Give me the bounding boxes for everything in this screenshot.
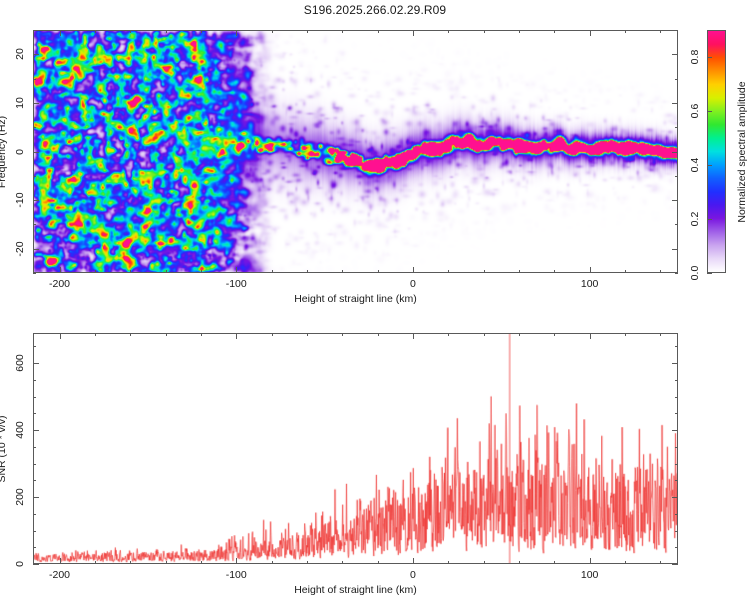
tick-mark	[307, 333, 308, 336]
tick-mark	[675, 176, 678, 177]
tick-mark	[484, 561, 485, 564]
tick-mark	[675, 346, 678, 347]
tick-mark	[519, 333, 520, 336]
tick-mark	[33, 249, 39, 250]
tick-mark	[554, 30, 555, 33]
tick-mark	[448, 561, 449, 564]
tick-mark	[33, 514, 36, 515]
tick-mark	[33, 54, 39, 55]
snr-x-axis-title: Height of straight line (km)	[294, 584, 417, 596]
tick-mark	[660, 30, 661, 33]
tick-mark	[130, 333, 131, 336]
tick-mark	[660, 333, 661, 336]
tick-mark	[95, 270, 96, 273]
tick-mark	[166, 270, 167, 273]
x-tick-label: 100	[581, 278, 599, 290]
y-tick-label: 200	[14, 488, 26, 506]
tick-mark	[672, 152, 678, 153]
tick-mark	[672, 103, 678, 104]
tick-mark	[672, 249, 678, 250]
x-tick-label: -200	[49, 278, 70, 290]
tick-mark	[33, 224, 36, 225]
tick-mark	[33, 103, 39, 104]
tick-mark	[201, 561, 202, 564]
tick-mark	[554, 561, 555, 564]
tick-mark	[33, 564, 39, 565]
tick-mark	[236, 558, 237, 564]
x-tick-label: -200	[49, 569, 70, 581]
tick-mark	[342, 270, 343, 273]
colorbar-tick-label: 0.4	[689, 155, 701, 175]
tick-mark	[342, 561, 343, 564]
tick-mark	[307, 30, 308, 33]
tick-mark	[33, 152, 39, 153]
tick-mark	[448, 30, 449, 33]
tick-mark	[95, 30, 96, 33]
colorbar-tick-label: 0.2	[689, 209, 701, 229]
tick-mark	[672, 54, 678, 55]
tick-mark	[33, 464, 36, 465]
spectrogram-x-axis-title: Height of straight line (km)	[294, 293, 417, 305]
tick-mark	[342, 30, 343, 33]
tick-mark	[675, 447, 678, 448]
tick-mark	[519, 30, 520, 33]
y-tick-label: 0	[14, 555, 26, 573]
colorbar-tick-mark	[707, 57, 712, 58]
tick-mark	[675, 531, 678, 532]
tick-mark	[519, 561, 520, 564]
tick-mark	[130, 30, 131, 33]
tick-mark	[236, 333, 237, 339]
tick-mark	[33, 413, 36, 414]
tick-mark	[60, 267, 61, 273]
tick-mark	[675, 127, 678, 128]
tick-mark	[201, 333, 202, 336]
snr-plot-area	[33, 333, 678, 564]
colorbar-tick-mark	[707, 219, 712, 220]
tick-mark	[484, 270, 485, 273]
figure-root: S196.2025.266.02.29.R09 -200-1000100-20-…	[0, 0, 750, 600]
tick-mark	[484, 333, 485, 336]
tick-mark	[33, 79, 36, 80]
tick-mark	[413, 333, 414, 339]
tick-mark	[625, 561, 626, 564]
tick-mark	[272, 561, 273, 564]
tick-mark	[675, 273, 678, 274]
x-tick-label: 0	[410, 569, 416, 581]
tick-mark	[378, 333, 379, 336]
tick-mark	[378, 30, 379, 33]
colorbar-tick-mark	[707, 273, 712, 274]
tick-mark	[33, 363, 39, 364]
tick-mark	[201, 270, 202, 273]
tick-mark	[130, 270, 131, 273]
tick-mark	[33, 127, 36, 128]
tick-mark	[675, 464, 678, 465]
tick-mark	[378, 561, 379, 564]
tick-mark	[675, 380, 678, 381]
tick-mark	[33, 397, 36, 398]
colorbar-tick-mark	[707, 165, 712, 166]
tick-mark	[130, 561, 131, 564]
tick-mark	[675, 413, 678, 414]
y-tick-label: 10	[14, 94, 26, 112]
tick-mark	[166, 561, 167, 564]
tick-mark	[201, 30, 202, 33]
tick-mark	[342, 333, 343, 336]
tick-mark	[672, 564, 678, 565]
y-tick-label: -10	[14, 191, 26, 209]
y-tick-label: 0	[14, 143, 26, 161]
tick-mark	[33, 346, 36, 347]
figure-title: S196.2025.266.02.29.R09	[0, 3, 750, 17]
tick-mark	[675, 30, 678, 31]
tick-mark	[33, 430, 39, 431]
tick-mark	[660, 270, 661, 273]
x-tick-label: -100	[226, 569, 247, 581]
tick-mark	[33, 497, 39, 498]
tick-mark	[672, 363, 678, 364]
tick-mark	[307, 270, 308, 273]
colorbar-gradient	[707, 30, 726, 273]
tick-mark	[272, 333, 273, 336]
snr-line-trace	[34, 334, 677, 563]
y-tick-label: 400	[14, 421, 26, 439]
spectrogram-plot-area	[33, 30, 678, 273]
tick-mark	[413, 558, 414, 564]
tick-mark	[33, 200, 39, 201]
tick-mark	[590, 267, 591, 273]
tick-mark	[236, 30, 237, 36]
tick-mark	[675, 480, 678, 481]
tick-mark	[675, 79, 678, 80]
tick-mark	[675, 514, 678, 515]
spectrogram-image	[34, 31, 677, 272]
tick-mark	[590, 30, 591, 36]
tick-mark	[672, 430, 678, 431]
tick-mark	[484, 30, 485, 33]
tick-mark	[272, 270, 273, 273]
colorbar-tick-label: 0.6	[689, 101, 701, 121]
tick-mark	[33, 531, 36, 532]
tick-mark	[166, 30, 167, 33]
tick-mark	[33, 30, 36, 31]
x-tick-label: 100	[581, 569, 599, 581]
spectrogram-y-axis-title: Frequency (Hz)	[0, 115, 8, 187]
y-tick-label: -20	[14, 240, 26, 258]
tick-mark	[95, 561, 96, 564]
colorbar-tick-mark	[707, 111, 712, 112]
tick-mark	[236, 267, 237, 273]
tick-mark	[672, 497, 678, 498]
tick-mark	[625, 333, 626, 336]
tick-mark	[675, 547, 678, 548]
tick-mark	[378, 270, 379, 273]
tick-mark	[519, 270, 520, 273]
snr-y-axis-title: SNR (10 * v/v)	[0, 415, 8, 482]
y-tick-label: 600	[14, 354, 26, 372]
colorbar-tick-label: 0.0	[689, 263, 701, 283]
tick-mark	[307, 561, 308, 564]
tick-mark	[554, 270, 555, 273]
tick-mark	[272, 30, 273, 33]
tick-mark	[413, 267, 414, 273]
tick-mark	[33, 273, 36, 274]
colorbar-axis-title: Normalized spectral amplitude	[736, 81, 748, 222]
tick-mark	[33, 447, 36, 448]
tick-mark	[448, 333, 449, 336]
tick-mark	[660, 561, 661, 564]
y-tick-label: 20	[14, 45, 26, 63]
tick-mark	[590, 558, 591, 564]
tick-mark	[672, 200, 678, 201]
tick-mark	[590, 333, 591, 339]
tick-mark	[60, 558, 61, 564]
tick-mark	[675, 397, 678, 398]
colorbar-tick-label: 0.8	[689, 47, 701, 67]
tick-mark	[95, 333, 96, 336]
x-tick-label: -100	[226, 278, 247, 290]
tick-mark	[60, 333, 61, 339]
tick-mark	[625, 30, 626, 33]
tick-mark	[33, 547, 36, 548]
tick-mark	[413, 30, 414, 36]
tick-mark	[554, 333, 555, 336]
tick-mark	[625, 270, 626, 273]
x-tick-label: 0	[410, 278, 416, 290]
tick-mark	[33, 176, 36, 177]
tick-mark	[166, 333, 167, 336]
tick-mark	[448, 270, 449, 273]
colorbar-gradient-fill	[708, 31, 725, 272]
tick-mark	[33, 480, 36, 481]
tick-mark	[675, 224, 678, 225]
tick-mark	[60, 30, 61, 36]
tick-mark	[33, 380, 36, 381]
